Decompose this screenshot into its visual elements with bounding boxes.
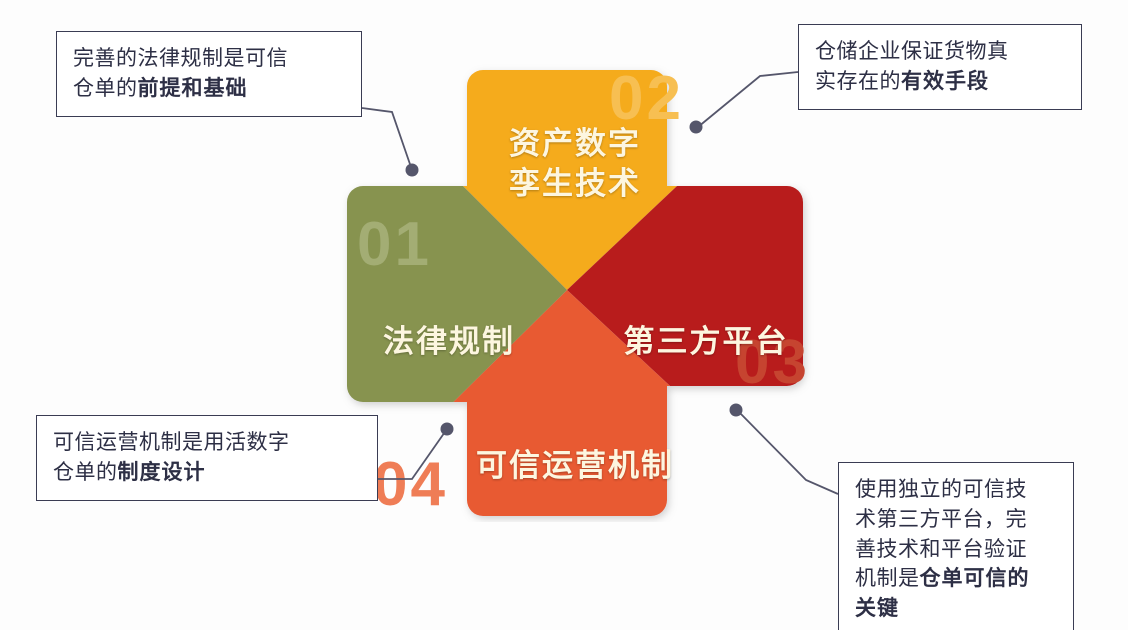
callout-line-1: 完善的法律规制是可信 xyxy=(73,44,347,74)
callout-line-2: 仓单的前提和基础 xyxy=(73,74,347,104)
callout-third-party-platform: 使用独立的可信技 术第三方平台，完 善技术和平台验证 机制是仓单可信的 关键 xyxy=(838,462,1074,630)
callout-line-2: 仓单的制度设计 xyxy=(53,458,363,488)
diagram-canvas: 01 02 03 04 资产数字 孪生技术 法律规制 第三方平台 可信运营机制 xyxy=(0,0,1128,630)
callout-text-bold: 制度设计 xyxy=(118,461,206,484)
callout-text-bold-2: 关键 xyxy=(855,597,899,620)
cross-arrow-diagram: 01 02 03 04 资产数字 孪生技术 法律规制 第三方平台 可信运营机制 xyxy=(331,54,819,522)
callout-digital-twin: 仓储企业保证货物真 实存在的有效手段 xyxy=(798,24,1082,110)
callout-trusted-operation: 可信运营机制是用活数字 仓单的制度设计 xyxy=(36,415,378,501)
callout-text-normal: 实存在的 xyxy=(815,70,901,93)
callout-text-bold: 仓单可信的 xyxy=(920,567,1030,590)
callout-line-1: 可信运营机制是用活数字 xyxy=(53,428,363,458)
callout-line-1: 使用独立的可信技 xyxy=(855,475,1059,505)
callout-line-5: 关键 xyxy=(855,594,1059,624)
callout-line-1: 仓储企业保证货物真 xyxy=(815,37,1067,67)
callout-text-normal: 仓单的 xyxy=(73,77,138,100)
callout-line-3: 善技术和平台验证 xyxy=(855,535,1059,565)
callout-line-2: 术第三方平台，完 xyxy=(855,505,1059,535)
callout-line-4: 机制是仓单可信的 xyxy=(855,564,1059,594)
callout-line-2: 实存在的有效手段 xyxy=(815,67,1067,97)
callout-text-normal: 仓单的 xyxy=(53,461,118,484)
callout-text-normal: 机制是 xyxy=(855,567,920,590)
callout-legal: 完善的法律规制是可信 仓单的前提和基础 xyxy=(56,31,362,117)
callout-text-bold: 前提和基础 xyxy=(138,77,248,100)
callout-text-bold: 有效手段 xyxy=(901,70,989,93)
